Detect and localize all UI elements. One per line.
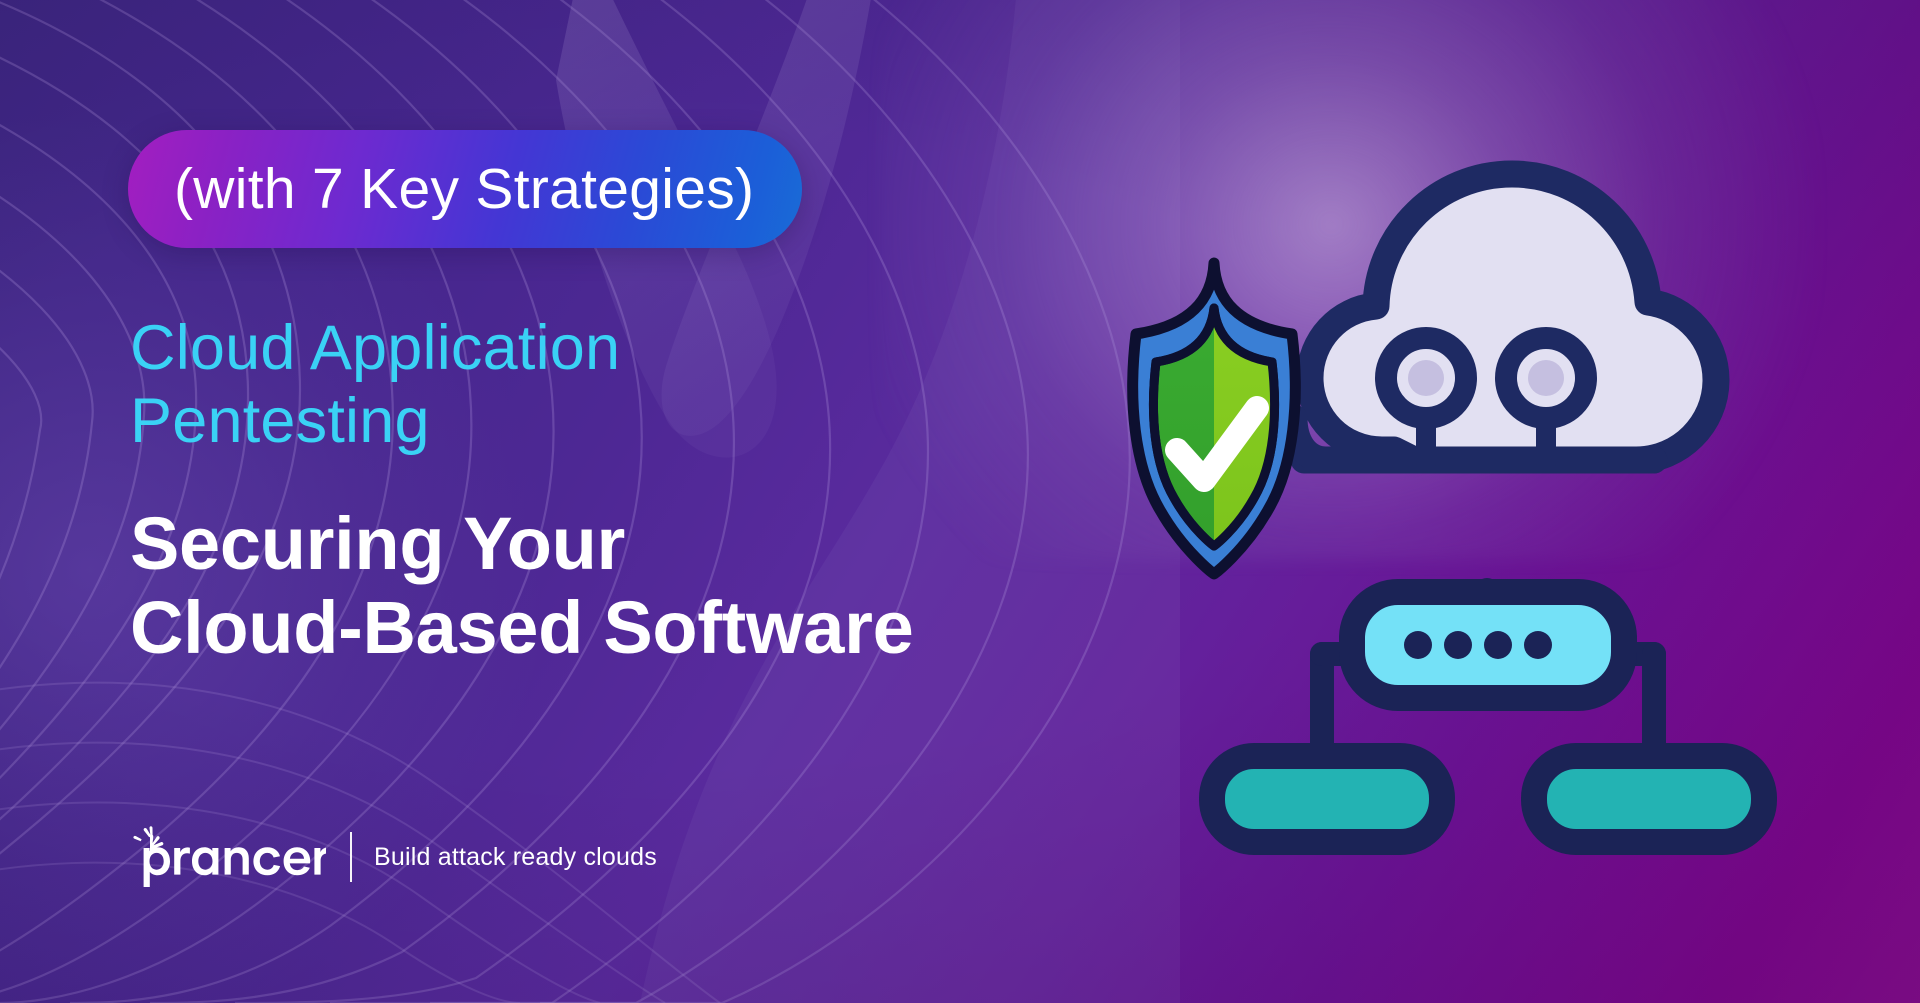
banner-canvas: (with 7 Key Strategies) Cloud Applicatio… bbox=[0, 0, 1920, 1003]
server-left-body bbox=[1212, 756, 1442, 842]
shield-check-icon bbox=[1133, 263, 1296, 574]
cloud-icon bbox=[1294, 174, 1716, 462]
router-icon bbox=[1352, 592, 1624, 698]
brand-divider bbox=[350, 832, 352, 882]
brand-tagline: Build attack ready clouds bbox=[374, 843, 657, 872]
server-node-right-icon bbox=[1534, 756, 1764, 842]
server-right-body bbox=[1534, 756, 1764, 842]
strategies-badge-label: (with 7 Key Strategies) bbox=[174, 161, 754, 218]
brand-lockup: Build attack ready clouds bbox=[130, 826, 657, 888]
prancer-wordmark bbox=[144, 847, 326, 887]
illustration-svg bbox=[1094, 150, 1884, 870]
subheading: Cloud Application Pentesting bbox=[130, 312, 620, 458]
page-title: Securing Your Cloud-Based Software bbox=[130, 502, 913, 671]
strategies-badge: (with 7 Key Strategies) bbox=[128, 130, 802, 248]
server-node-left-icon bbox=[1212, 756, 1442, 842]
cloud-body bbox=[1310, 174, 1716, 460]
prancer-logo-icon bbox=[130, 826, 326, 888]
secured-cloud-network-illustration bbox=[1094, 150, 1884, 870]
antler-icon bbox=[133, 826, 163, 850]
